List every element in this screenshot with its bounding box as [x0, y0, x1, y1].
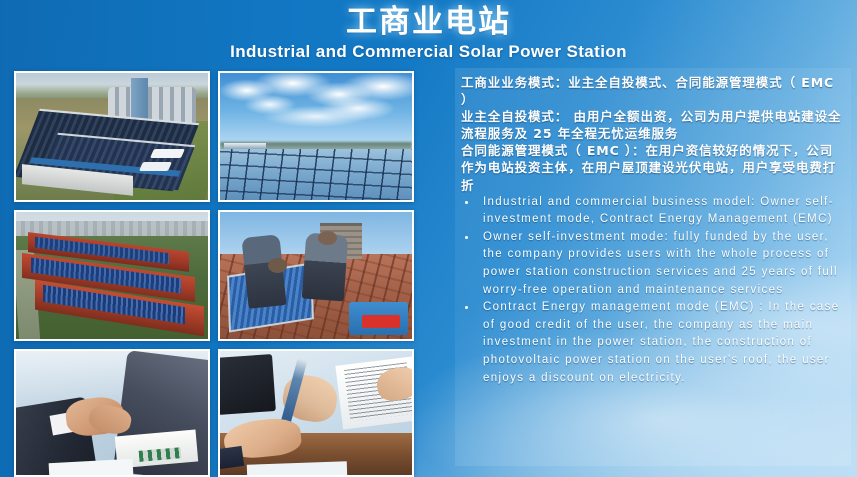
list-item: Industrial and commercial business model… [461, 194, 845, 229]
photo-rooftop-pv-array-sky[interactable] [218, 71, 414, 202]
description-panel: 工商业业务模式：业主全自投模式、合同能源管理模式（ EMC ） 业主全自投模式：… [455, 68, 851, 466]
chinese-paragraph-self-investment: 业主全自投模式： 由用户全额出资，公司为用户提供电站建设全流程服务及 25 年全… [461, 108, 845, 142]
page-title-chinese: 工商业电站 [0, 3, 857, 41]
photo-red-roof-factories-pv[interactable] [14, 210, 210, 341]
chinese-paragraph-business-models: 工商业业务模式：业主全自投模式、合同能源管理模式（ EMC ） [461, 74, 845, 108]
clouds-shape [220, 73, 412, 152]
photo-aerial-industrial-plant[interactable] [14, 71, 210, 202]
photo-grid [14, 71, 414, 469]
pv-array-shape [218, 149, 414, 200]
chinese-paragraph-emc: 合同能源管理模式（ EMC ）：在用户资信较好的情况下，公司作为电站投资主体，在… [461, 142, 845, 193]
english-bullet-list: Industrial and commercial business model… [461, 194, 845, 388]
slide-header: 工商业电站 Industrial and Commercial Solar Po… [0, 0, 857, 63]
slide-root: 工商业电站 Industrial and Commercial Solar Po… [0, 0, 857, 477]
photo-workers-installing-panel[interactable] [218, 210, 414, 341]
list-item: Owner self-investment mode: fully funded… [461, 229, 845, 299]
chinese-description-block: 工商业业务模式：业主全自投模式、合同能源管理模式（ EMC ） 业主全自投模式：… [461, 74, 845, 194]
list-item: Contract Energy management mode (EMC) : … [461, 299, 845, 387]
page-title-english: Industrial and Commercial Solar Power St… [0, 41, 857, 63]
photo-business-handshake[interactable] [14, 349, 210, 477]
photo-contract-signing-pen[interactable] [218, 349, 414, 477]
